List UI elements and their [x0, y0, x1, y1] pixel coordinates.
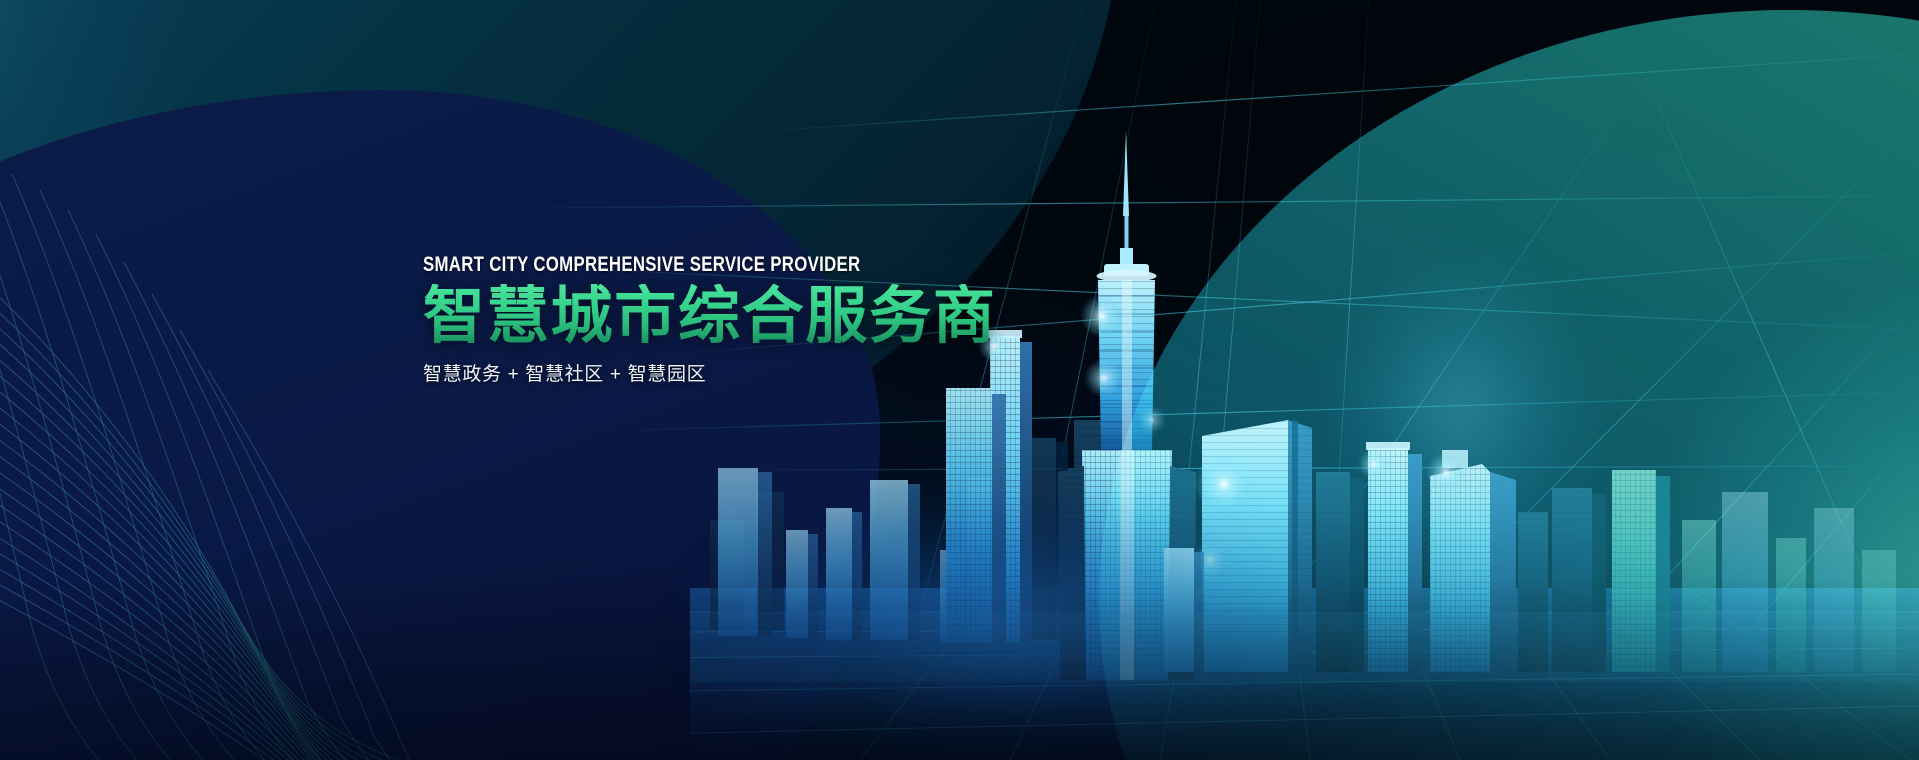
banner-eyebrow-english: SMART CITY COMPREHENSIVE SERVICE PROVIDE… — [423, 254, 1079, 275]
smart-city-hero-banner: SMART CITY COMPREHENSIVE SERVICE PROVIDE… — [0, 0, 1919, 760]
hero-copy-block: SMART CITY COMPREHENSIVE SERVICE PROVIDE… — [423, 254, 1243, 388]
banner-subline-services: 智慧政务 + 智慧社区 + 智慧园区 — [423, 363, 1243, 388]
banner-headline-chinese: 智慧城市综合服务商 — [423, 284, 1243, 351]
